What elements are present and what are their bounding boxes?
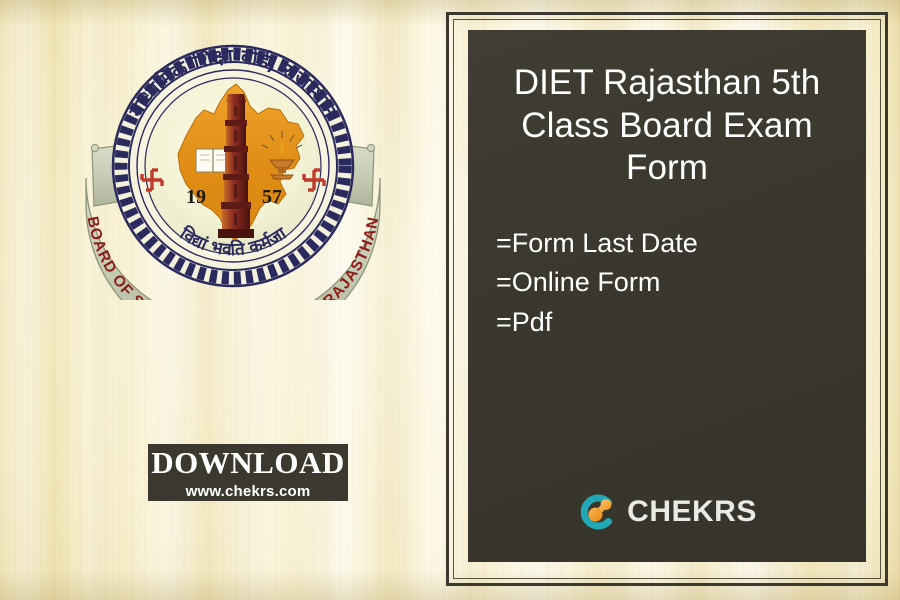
poster-canvas: माध्यमिक शिक्षा बोर्ड, राजस्थान विद्यां … [0,0,900,600]
list-item: =Online Form [496,263,840,302]
download-label: DOWNLOAD [151,447,344,478]
panel-spacer [494,358,840,492]
rajasthan-board-emblem: माध्यमिक शिक्षा बोर्ड, राजस्थान विद्यां … [68,18,398,300]
page-title: DIET Rajasthan 5th Class Board Exam Form [494,62,840,190]
download-badge[interactable]: DOWNLOAD www.chekrs.com [148,444,348,501]
chekrs-brand-lockup: CHEKRS [494,492,840,544]
list-item: =Form Last Date [496,224,840,263]
emblem-year-left: 19 [186,186,206,208]
feature-list: =Form Last Date =Online Form =Pdf [494,224,840,342]
chekrs-wordmark: CHEKRS [627,497,757,527]
dark-content-panel: DIET Rajasthan 5th Class Board Exam Form… [468,30,866,562]
list-item: =Pdf [496,303,840,342]
open-book-icon [196,149,230,172]
chekrs-logo-icon [577,492,617,532]
website-url-label: www.chekrs.com [186,484,311,499]
emblem-year-right: 57 [262,186,282,208]
